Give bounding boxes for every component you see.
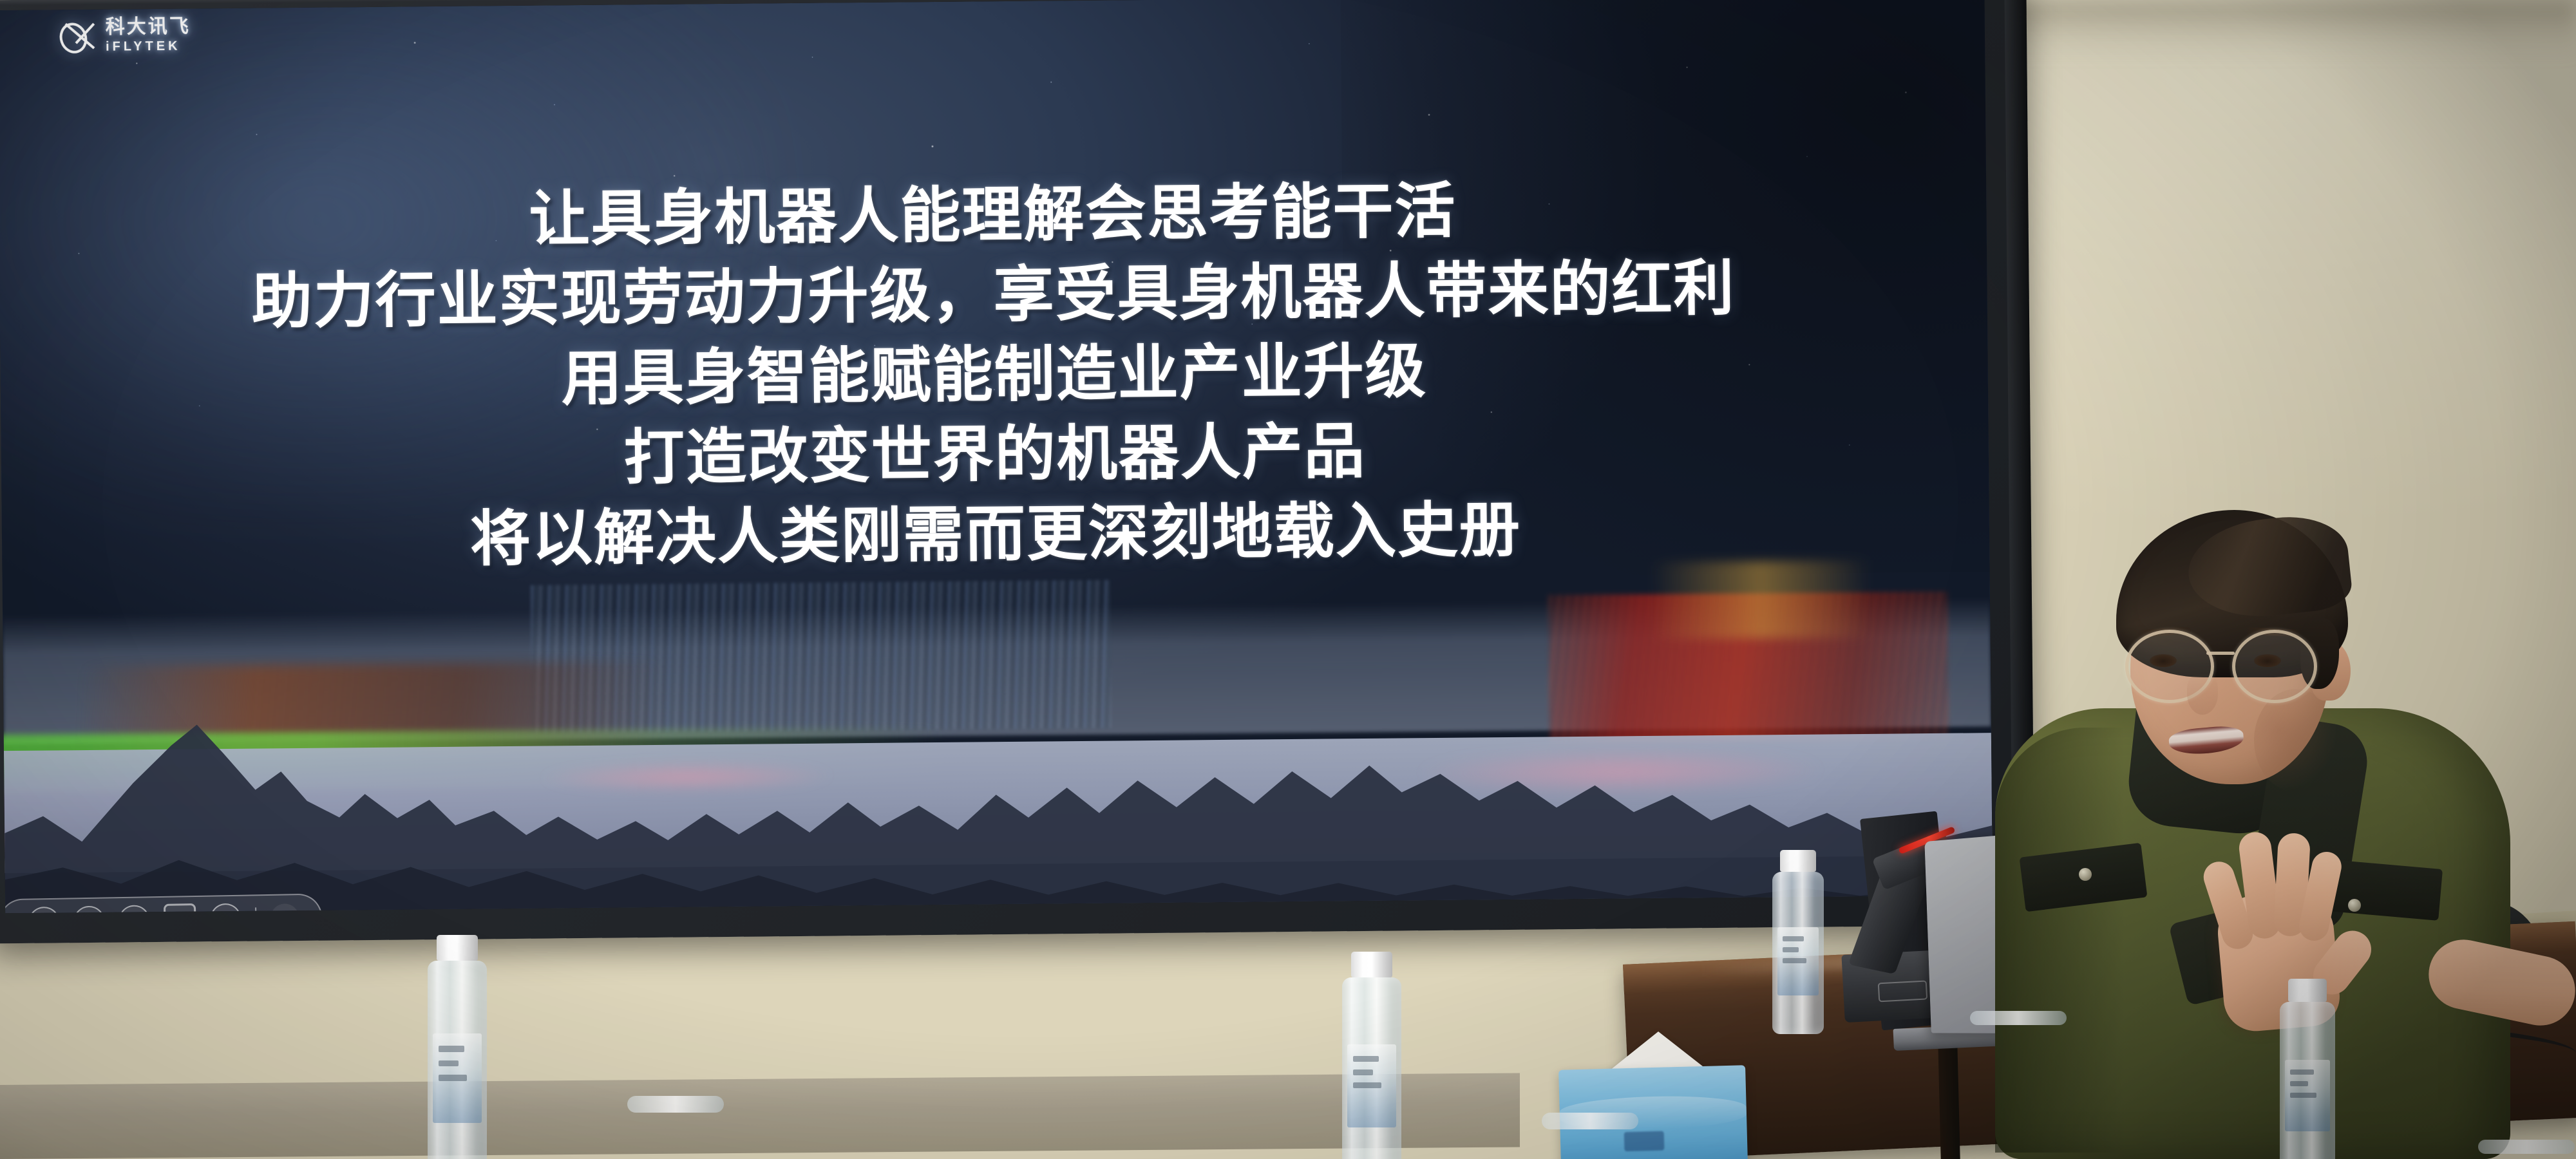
sky-dark-corner bbox=[1340, 0, 1989, 578]
bottle-body bbox=[1772, 872, 1824, 1034]
water-bottle-right bbox=[2280, 979, 2335, 1159]
bottle-label bbox=[1777, 927, 1819, 995]
iflytek-chinese-name: 科大讯飞 bbox=[106, 17, 191, 37]
display-panel: 让具身机器人能理解会思考能干活 助力行业实现劳动力升级，享受具身机器人带来的红利… bbox=[0, 0, 2035, 943]
bottle-body bbox=[2280, 1002, 2335, 1159]
bottle-body bbox=[1342, 977, 1401, 1159]
eye-left bbox=[2150, 654, 2177, 667]
bottle-neck bbox=[2478, 1140, 2575, 1154]
iflytek-english-name: iFLYTEK bbox=[106, 39, 191, 53]
toolbar-divider bbox=[255, 907, 257, 913]
bottle-label bbox=[1347, 1044, 1396, 1127]
sky-glow bbox=[0, 0, 775, 514]
tissue-box-logo bbox=[1624, 1131, 1664, 1152]
water-bottle-center bbox=[1342, 952, 1401, 1159]
volume-icon[interactable] bbox=[270, 903, 299, 913]
screenshot-icon[interactable] bbox=[164, 903, 196, 913]
bottle-cap bbox=[1351, 952, 1392, 977]
bottle-label bbox=[2285, 1060, 2330, 1131]
jacket-shadow bbox=[1995, 728, 2124, 1153]
screenshot-stage: 让具身机器人能理解会思考能干活 助力行业实现劳动力升级，享受具身机器人带来的红利… bbox=[0, 0, 2576, 1159]
microphone-label bbox=[1878, 980, 1927, 1002]
bottle-cap bbox=[1780, 850, 1816, 872]
desk-leg bbox=[1938, 1046, 1962, 1159]
iflytek-wordmark: 科大讯飞 iFLYTEK bbox=[106, 17, 191, 53]
eye-right bbox=[2254, 654, 2281, 667]
glasses-lens-right bbox=[2232, 630, 2317, 703]
bottle-neck bbox=[1542, 1113, 1638, 1129]
bottle-neck bbox=[627, 1096, 724, 1113]
bottle-neck bbox=[1970, 1011, 2067, 1025]
ceiling-shadow bbox=[1932, 0, 2576, 58]
bottle-cap bbox=[437, 935, 478, 961]
iflytek-alpha-mark-icon bbox=[57, 16, 99, 55]
bottle-label bbox=[433, 1033, 482, 1123]
wall-skirting bbox=[0, 1073, 1520, 1159]
iflytek-logo: 科大讯飞 iFLYTEK bbox=[57, 15, 191, 55]
display-screen[interactable]: 让具身机器人能理解会思考能干活 助力行业实现劳动力升级，享受具身机器人带来的红利… bbox=[0, 0, 1993, 913]
jacket-snap-button bbox=[2079, 868, 2092, 881]
apps-icon[interactable]: app bbox=[210, 903, 241, 913]
bottle-body bbox=[428, 961, 487, 1159]
presenter bbox=[1984, 515, 2537, 1159]
mountain-silhouette bbox=[3, 689, 1993, 913]
water-bottle-left bbox=[428, 935, 487, 1159]
brushstroke-amber bbox=[1651, 560, 1870, 639]
glasses-bridge bbox=[2206, 652, 2235, 655]
bottle-cap bbox=[2288, 979, 2327, 1002]
water-bottle-desk bbox=[1772, 850, 1824, 1034]
nose bbox=[2187, 674, 2218, 715]
back-icon[interactable] bbox=[28, 907, 60, 913]
cheek-shading bbox=[2254, 689, 2338, 792]
circle-annotate-icon[interactable] bbox=[73, 906, 105, 914]
pen-icon[interactable] bbox=[118, 905, 150, 913]
